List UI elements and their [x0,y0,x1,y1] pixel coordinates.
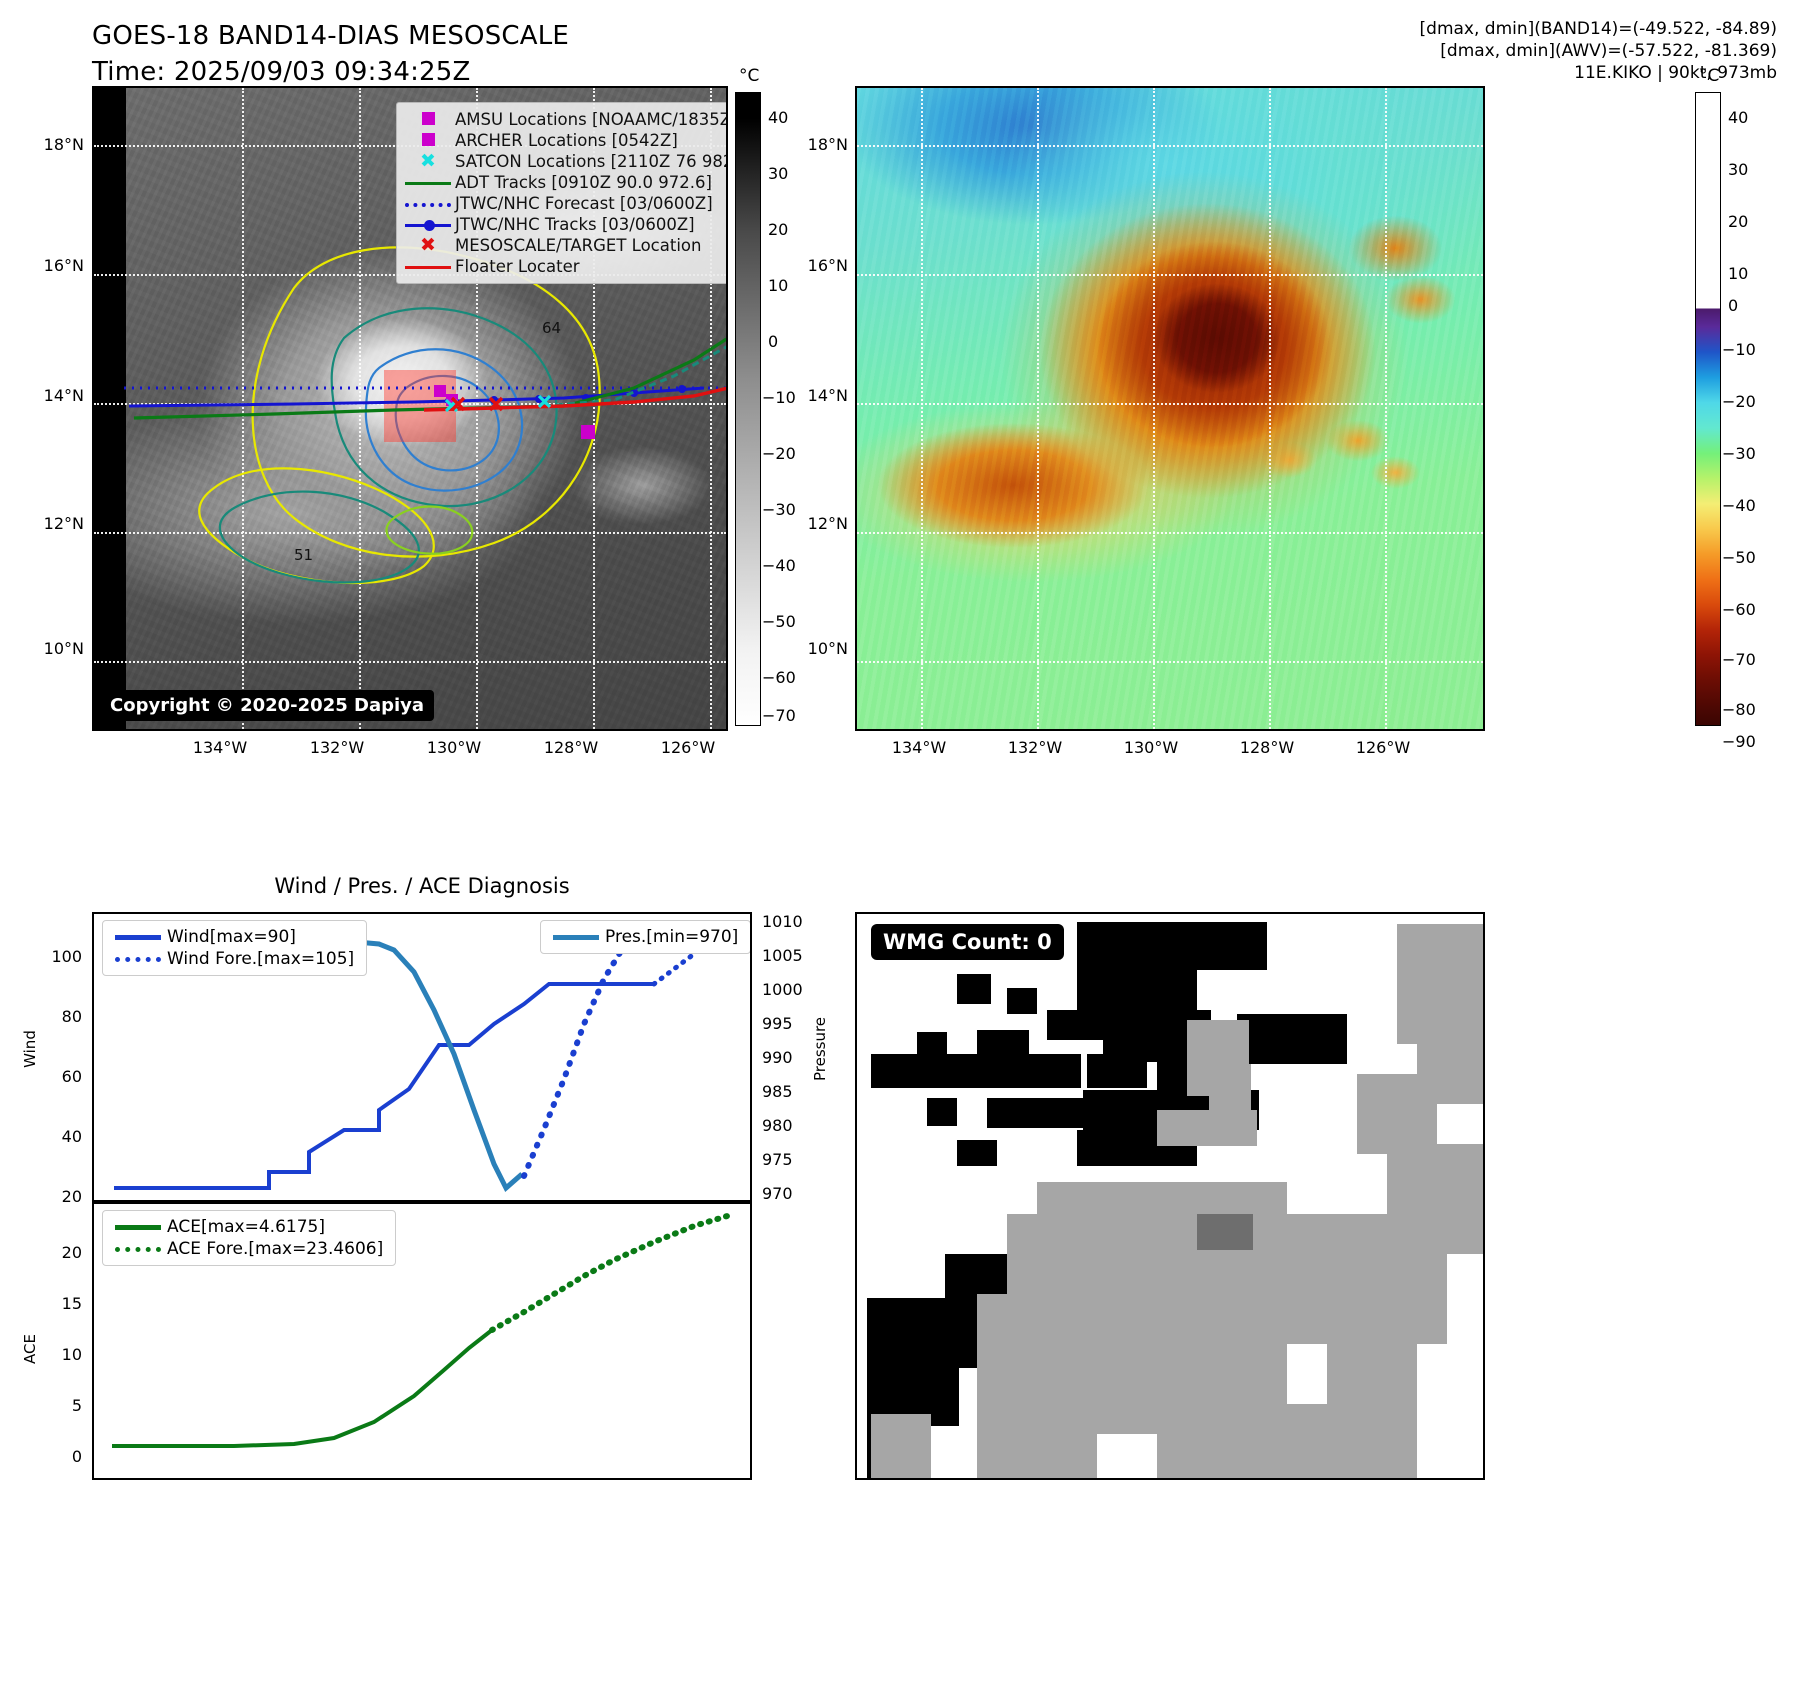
legend-label: ACE[max=4.6175] [164,1216,386,1238]
ir-colorbar-tick: −50 [762,612,796,631]
wind-ytick: 80 [38,1007,82,1026]
ace-forecast-dotted-icon [112,1238,164,1260]
awv-colorbar-tick: −70 [1722,650,1756,669]
legend-row: AMSU Locations [NOAAMC/1835Z 62 990] [403,109,728,130]
pressure-ytick: 1010 [762,912,803,931]
wmg-cell [1157,1110,1257,1146]
ir-xtick: 134°W [180,738,260,757]
awv-colorbar-tick: 40 [1728,108,1748,127]
meta-storm: 11E.KIKO | 90kt, 973mb [1420,62,1777,84]
wmg-cell [987,1098,1083,1128]
wind-ytick: 20 [38,1187,82,1206]
ace-ytick: 15 [38,1294,82,1313]
legend-row: Wind[max=90] [112,926,357,948]
wind-ytick: 100 [38,947,82,966]
wmg-cell [1397,924,1483,1044]
time-line: Time: 2025/09/03 09:34:25Z [92,54,569,90]
ir-xtick: 132°W [297,738,377,757]
pressure-ytick: 975 [762,1150,793,1169]
wind-ytick: 60 [38,1067,82,1086]
legend-label: SATCON Locations [2110Z 76 982] [453,151,728,172]
awv-color-imagery [857,88,1483,729]
cyan-x-icon: ✖ [403,151,453,172]
ir-colorbar-tick: 10 [768,276,788,295]
wmg-cell [1047,1010,1105,1040]
ir-ytick: 16°N [16,256,84,275]
ir-colorbar-tick: 40 [768,108,788,127]
awv-xtick: 132°W [995,738,1075,757]
blue-dotted-line-icon [403,193,453,214]
wmg-cell [957,1140,997,1166]
ir-colorbar-tick: −70 [762,706,796,725]
awv-colorbar-tick: −20 [1722,392,1756,411]
awv-colorbar-tick: −50 [1722,548,1756,567]
awv-colorbar-tick: 10 [1728,264,1748,283]
pressure-line-icon [550,926,602,948]
wmg-cell [1007,988,1037,1014]
wmg-cell [1097,1434,1157,1480]
awv-colorbar-tick: −30 [1722,444,1756,463]
wmg-cell [927,1098,957,1126]
wmg-cell [1357,1074,1437,1154]
wmg-map[interactable]: WMG Count: 0 [855,912,1485,1480]
ir-ytick: 14°N [16,386,84,405]
ir-colorbar-tick: −20 [762,444,796,463]
legend-row: Pres.[min=970] [550,926,741,948]
wind-pressure-chart[interactable]: Wind[max=90] Wind Fore.[max=105] Pres.[m… [92,912,752,1202]
ir-colorbar-tick: 0 [768,332,778,351]
grid-line-horizontal [857,403,1483,405]
grid-line-vertical [1269,88,1271,729]
awv-xtick: 134°W [879,738,959,757]
awv-colorbar-tick: 30 [1728,160,1748,179]
ir-colorbar-tick: −40 [762,556,796,575]
wind-legend[interactable]: Wind[max=90] Wind Fore.[max=105] [102,920,367,976]
awv-ytick: 18°N [780,135,848,154]
red-line-icon [403,256,453,277]
pressure-legend[interactable]: Pres.[min=970] [540,920,751,954]
legend-row: ADT Tracks [0910Z 90.0 972.6] [403,172,728,193]
awv-ytick: 14°N [780,386,848,405]
grid-line-horizontal [857,274,1483,276]
awv-colorbar-tick: −80 [1722,700,1756,719]
wind-pres-ace-title: Wind / Pres. / ACE Diagnosis [92,874,752,898]
ir-ytick: 18°N [16,135,84,154]
wmg-cell [1187,922,1267,970]
wmg-cell [871,1414,931,1478]
ir-ytick: 10°N [16,639,84,658]
pressure-axis-label: Pressure [811,1004,829,1094]
wmg-cell [871,1054,1081,1088]
legend-row: ✖ MESOSCALE/TARGET Location [403,235,728,256]
grid-line-vertical [1153,88,1155,729]
legend-label: ARCHER Locations [0542Z] [453,130,728,151]
legend-label: Floater Locater [453,256,728,277]
legend-label: AMSU Locations [NOAAMC/1835Z 62 990] [453,109,728,130]
magenta-square-icon [403,130,453,151]
ir-colorbar-unit: °C [739,66,759,86]
legend-label: JTWC/NHC Forecast [03/0600Z] [453,193,728,214]
ir-colorbar-tick: −60 [762,668,796,687]
pressure-ytick: 990 [762,1048,793,1067]
ir-satellite-image[interactable]: 64 51 [92,86,728,731]
ace-axis-label: ACE [21,1309,39,1389]
awv-colorbar-tick: 20 [1728,212,1748,231]
awv-xtick: 126°W [1343,738,1423,757]
wmg-cell [1237,1014,1347,1064]
awv-colorbar-unit: °C [1699,66,1719,86]
ir-xtick: 126°W [648,738,728,757]
title-line: GOES-18 BAND14-DIAS MESOSCALE [92,18,569,54]
awv-ytick: 10°N [780,639,848,658]
wmg-cell [1077,922,1197,1022]
meta-awv: [dmax, dmin](AWV)=(-57.522, -81.369) [1420,40,1777,62]
awv-xtick: 130°W [1111,738,1191,757]
legend-label: ACE Fore.[max=23.4606] [164,1238,386,1260]
grid-line-horizontal [857,145,1483,147]
pressure-ytick: 995 [762,1014,793,1033]
wmg-cell [1087,1054,1147,1088]
grid-line-vertical [1037,88,1039,729]
ace-line-icon [112,1216,164,1238]
wind-ytick: 40 [38,1127,82,1146]
metadata-block: [dmax, dmin](BAND14)=(-49.522, -84.89) [… [1420,18,1777,84]
grid-line-vertical [921,88,923,729]
ace-legend[interactable]: ACE[max=4.6175] ACE Fore.[max=23.4606] [102,1210,396,1266]
svg-text:51: 51 [294,546,313,564]
legend-label: Wind[max=90] [164,926,357,948]
legend-row: Floater Locater [403,256,728,277]
svg-text:64: 64 [542,319,561,337]
ir-xtick: 128°W [531,738,611,757]
ace-chart[interactable]: ACE[max=4.6175] ACE Fore.[max=23.4606] [92,1202,752,1480]
ace-ytick: 0 [38,1447,82,1466]
ir-colorbar-tick: 20 [768,220,788,239]
awv-colorbar-tick: −40 [1722,496,1756,515]
pressure-ytick: 970 [762,1184,793,1203]
ace-ytick: 20 [38,1243,82,1262]
magenta-square-icon [403,109,453,130]
meta-band14: [dmax, dmin](BAND14)=(-49.522, -84.89) [1420,18,1777,40]
wmg-cell [1417,1384,1477,1454]
wind-line-icon [112,926,164,948]
ace-ytick: 10 [38,1345,82,1364]
awv-ytick: 12°N [780,514,848,533]
wmg-cell [1287,1214,1447,1344]
legend-row: ACE Fore.[max=23.4606] [112,1238,386,1260]
awv-colorbar-tick: −10 [1722,340,1756,359]
ir-ytick: 12°N [16,514,84,533]
grid-line-vertical [1385,88,1387,729]
pressure-ytick: 985 [762,1082,793,1101]
legend-label: ADT Tracks [0910Z 90.0 972.6] [453,172,728,193]
grid-line-horizontal [857,532,1483,534]
grid-line-horizontal [857,661,1483,663]
red-x-icon: ✖ [403,235,453,256]
wmg-cell [1197,1214,1253,1250]
legend-row: Wind Fore.[max=105] [112,948,357,970]
awv-ytick: 16°N [780,256,848,275]
ir-colorbar-tick: 30 [768,164,788,183]
legend-label: Wind Fore.[max=105] [164,948,357,970]
ace-ytick: 5 [38,1396,82,1415]
legend-label: JTWC/NHC Tracks [03/0600Z] [453,214,728,235]
wind-forecast-dotted-icon [112,948,164,970]
wmg-cell [957,974,991,1004]
ir-legend[interactable]: AMSU Locations [NOAAMC/1835Z 62 990] ARC… [396,102,728,284]
legend-row: JTWC/NHC Tracks [03/0600Z] [403,214,728,235]
awv-colorbar-tick: −60 [1722,600,1756,619]
legend-row: ✖ SATCON Locations [2110Z 76 982] [403,151,728,172]
awv-satellite-image[interactable] [855,86,1485,731]
blue-line-marker-icon [403,214,453,235]
awv-xtick: 128°W [1227,738,1307,757]
ir-xtick: 130°W [414,738,494,757]
wmg-count-badge: WMG Count: 0 [871,924,1064,960]
legend-row: JTWC/NHC Forecast [03/0600Z] [403,193,728,214]
pressure-ytick: 980 [762,1116,793,1135]
legend-label: Pres.[min=970] [602,926,741,948]
green-line-icon [403,172,453,193]
pressure-ytick: 1005 [762,946,803,965]
wmg-cell [1287,1344,1327,1404]
ir-colorbar [735,92,761,726]
legend-label: MESOSCALE/TARGET Location [453,235,728,256]
awv-colorbar-tick: −90 [1722,732,1756,751]
pressure-ytick: 1000 [762,980,803,999]
legend-row: ACE[max=4.6175] [112,1216,386,1238]
awv-colorbar-tick: 0 [1728,296,1738,315]
copyright-badge: Copyright © 2020-2025 Dapiya [100,690,434,721]
page-title: GOES-18 BAND14-DIAS MESOSCALE Time: 2025… [92,18,569,90]
legend-row: ARCHER Locations [0542Z] [403,130,728,151]
wind-axis-label: Wind [21,1009,39,1089]
awv-colorbar [1695,92,1721,726]
